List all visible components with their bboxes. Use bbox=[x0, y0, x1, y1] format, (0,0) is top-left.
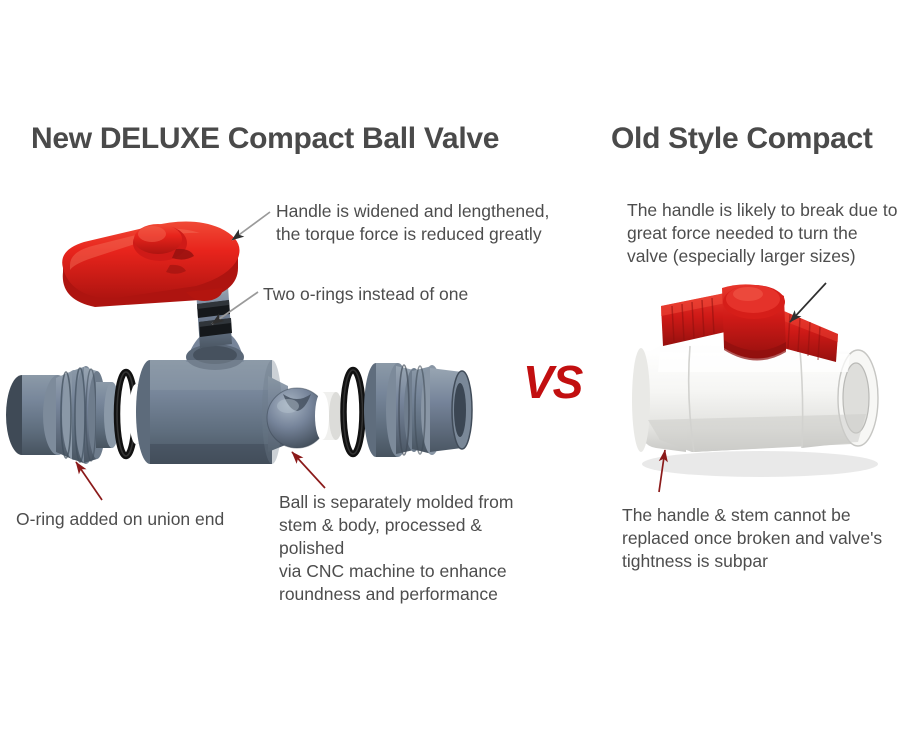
union-end-right bbox=[364, 363, 472, 457]
o-ring-right bbox=[344, 370, 365, 454]
leader-orings bbox=[212, 292, 258, 324]
leader-union bbox=[76, 462, 102, 500]
old-style-pvc-valve bbox=[632, 284, 878, 477]
infographic-canvas: New DELUXE Compact Ball Valve Old Style … bbox=[0, 0, 918, 740]
new-valve-illustration bbox=[0, 0, 918, 740]
o-ring-left bbox=[117, 372, 137, 456]
page-title-old-valve: Old Style Compact bbox=[611, 122, 873, 156]
cnc-machined-ball bbox=[267, 388, 327, 448]
annotation-ball-cnc-molded: Ball is separately molded from stem & bo… bbox=[279, 491, 549, 606]
leader-handle bbox=[232, 212, 270, 240]
red-butterfly-handle bbox=[62, 221, 239, 307]
union-nut-left bbox=[6, 366, 120, 464]
annotation-old-handle-breaks: The handle is likely to break due to gre… bbox=[627, 199, 915, 268]
annotation-old-stem-not-replaceable: The handle & stem cannot be replaced onc… bbox=[622, 504, 912, 573]
annotation-two-o-rings: Two o-rings instead of one bbox=[263, 283, 533, 306]
valve-seat-right bbox=[315, 392, 343, 440]
leader-old-stem bbox=[659, 450, 665, 492]
stem-with-two-o-rings bbox=[196, 282, 232, 348]
leader-old-handle bbox=[790, 283, 826, 322]
vs-divider-label: VS bbox=[523, 355, 582, 409]
valve-seat-left bbox=[129, 384, 157, 444]
valve-body bbox=[136, 330, 288, 464]
annotation-o-ring-union-end: O-ring added on union end bbox=[16, 508, 266, 531]
page-title-new-valve: New DELUXE Compact Ball Valve bbox=[31, 122, 499, 156]
annotation-handle-widened: Handle is widened and lengthened, the to… bbox=[276, 200, 581, 246]
leader-ball bbox=[292, 452, 325, 488]
red-t-handle bbox=[661, 284, 838, 362]
